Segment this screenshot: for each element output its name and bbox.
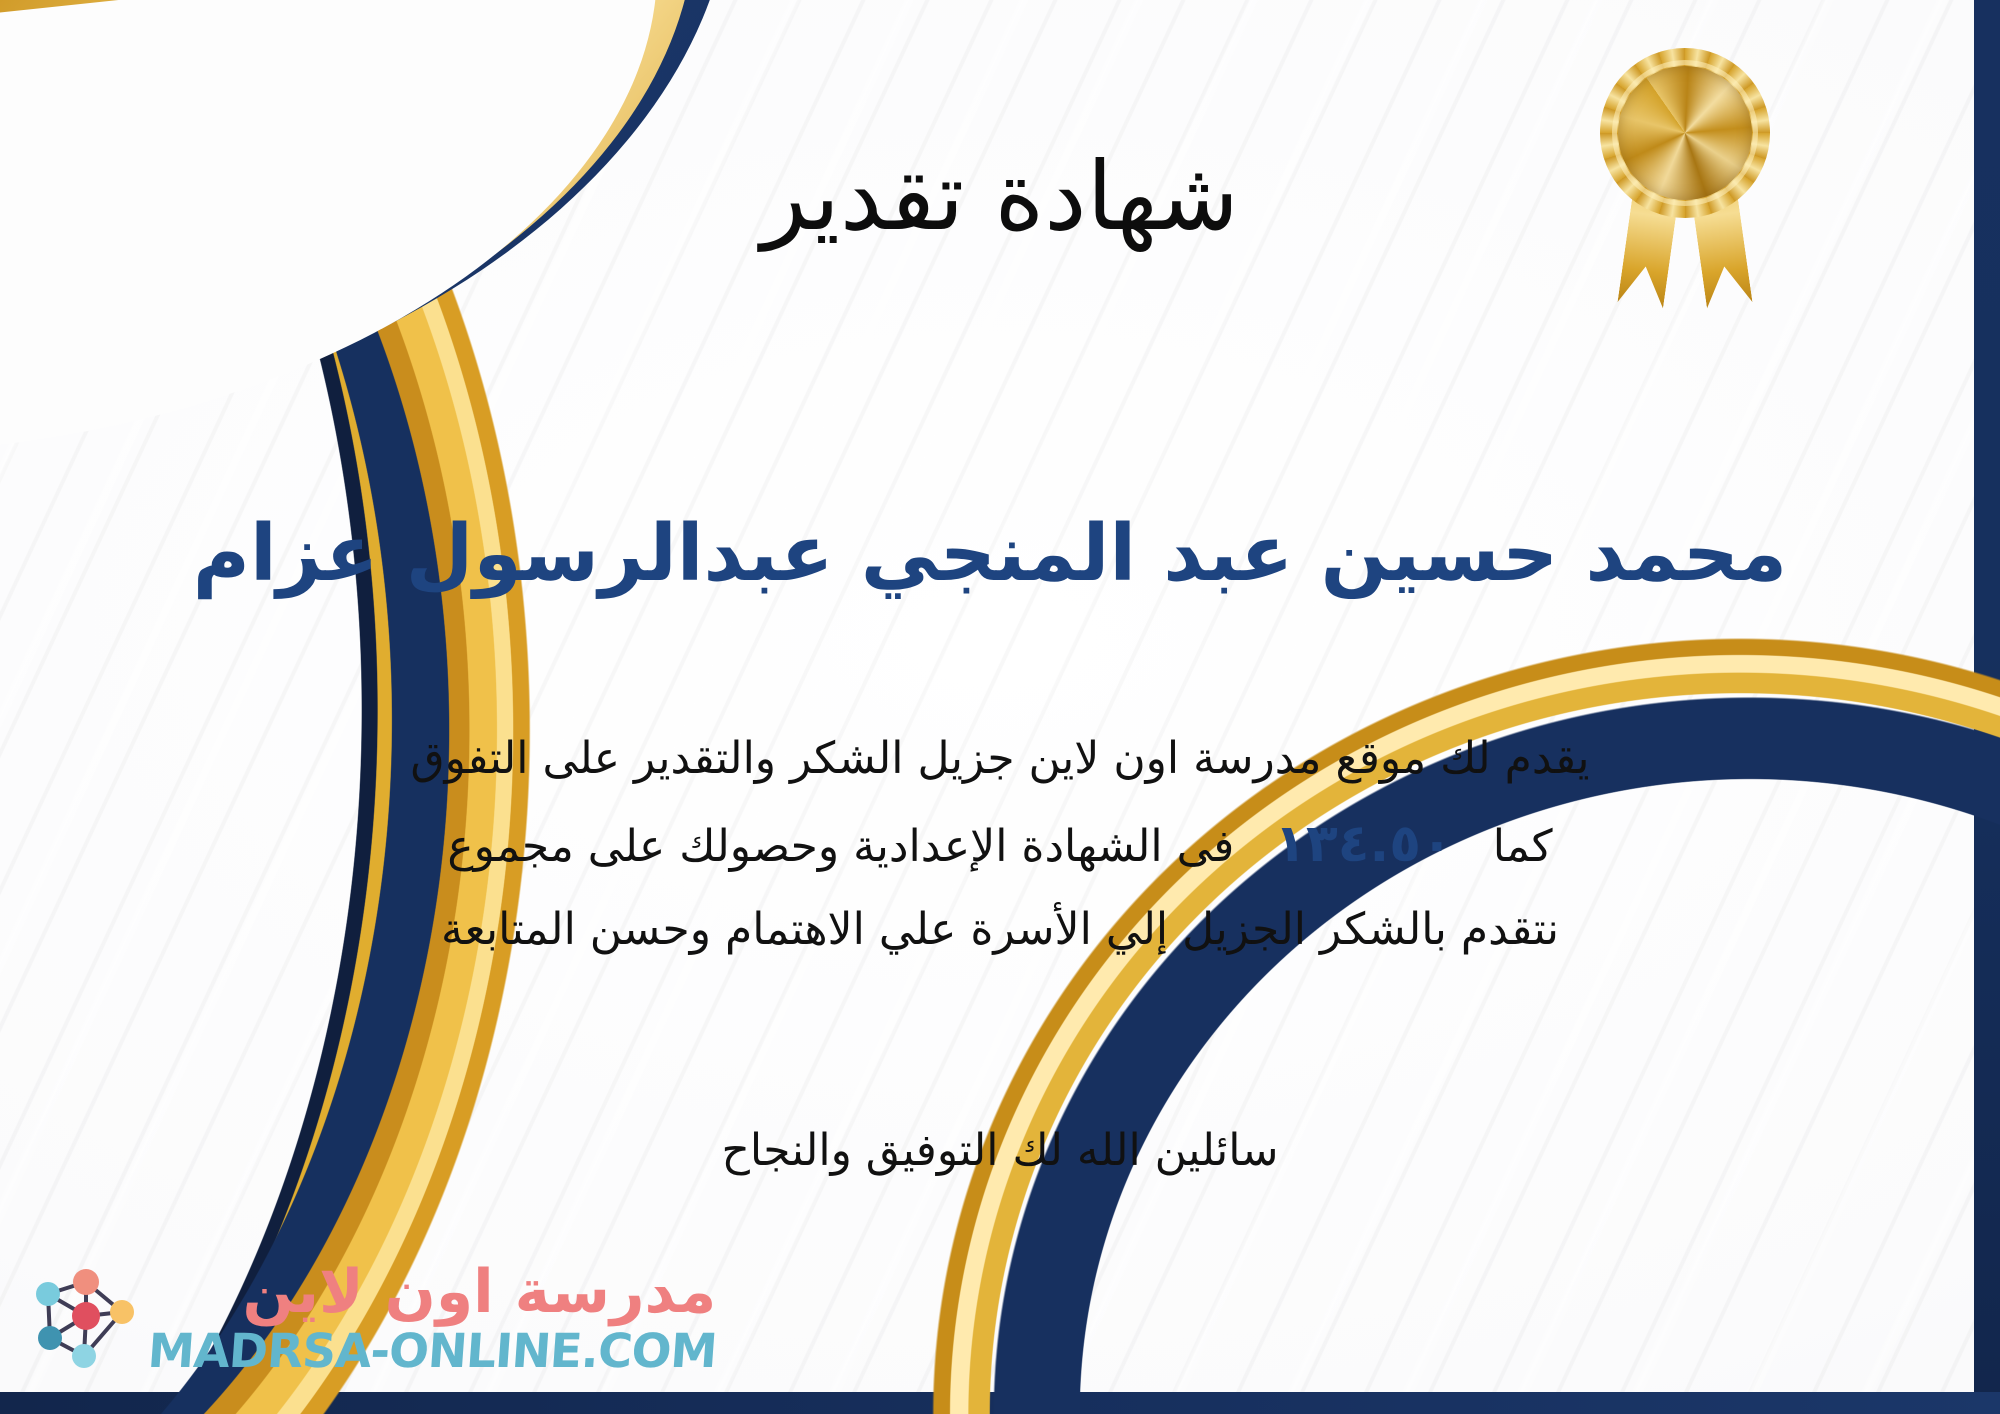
brand-text-group: مدرسة اون لاين MADRSA-ONLINE.COM — [148, 1262, 716, 1375]
recipient-name: محمد حسين عبد المنجي عبدالرسول عزام — [90, 510, 1890, 600]
body-line-2-prefix: فى الشهادة الإعدادية وحصولك على مجموع — [447, 821, 1234, 872]
brand-name-arabic: مدرسة اون لاين — [243, 1262, 717, 1322]
certificate-content: شهادة تقدير محمد حسين عبد المنجي عبدالرس… — [0, 0, 2000, 1414]
brand-domain: MADRSA-ONLINE.COM — [146, 1328, 718, 1375]
brand-logo[interactable]: مدرسة اون لاين MADRSA-ONLINE.COM — [26, 1260, 716, 1376]
body-line-2: كما ١٣٤.٥٠ فى الشهادة الإعدادية وحصولك ع… — [210, 798, 1790, 891]
certificate-body: يقدم لك موقع مدرسة اون لاين جزيل الشكر و… — [210, 720, 1790, 969]
grade-total-value: ١٣٤.٥٠ — [1248, 814, 1478, 874]
body-line-2-suffix: كما — [1493, 821, 1553, 872]
network-nodes-icon — [26, 1260, 142, 1376]
certificate-canvas: شهادة تقدير محمد حسين عبد المنجي عبدالرس… — [0, 0, 2000, 1414]
body-line-1: يقدم لك موقع مدرسة اون لاين جزيل الشكر و… — [210, 720, 1790, 798]
body-line-3: نتقدم بالشكر الجزيل إلي الأسرة علي الاهت… — [210, 891, 1790, 969]
page-title: شهادة تقدير — [0, 148, 2000, 248]
closing-statement: سائلين الله لك التوفيق والنجاح — [210, 1118, 1790, 1184]
